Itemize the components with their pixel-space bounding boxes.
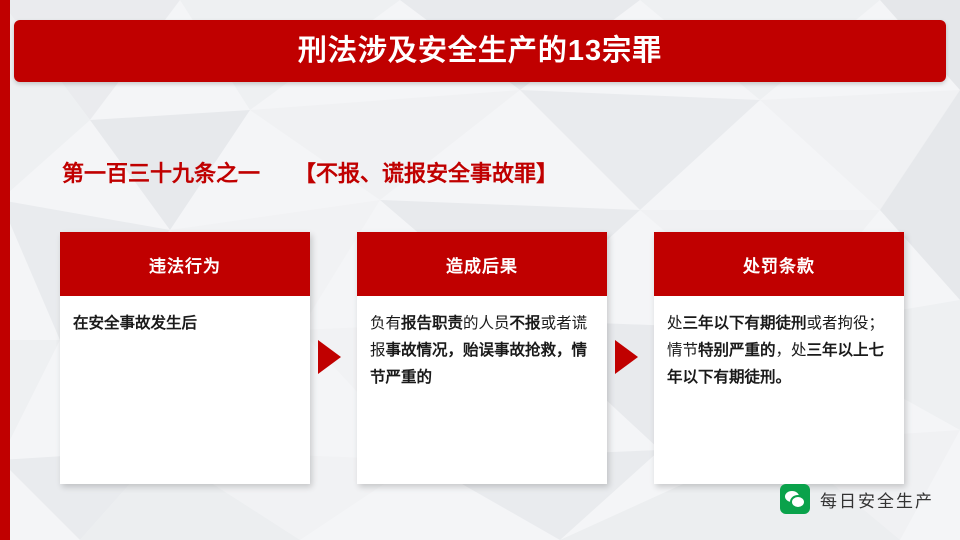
footer-watermark: 每日安全生产 [780,484,934,514]
card-text-segment: ，处 [776,342,807,359]
card-body: 在安全事故发生后 [60,296,310,347]
slide-title-banner: 刑法涉及安全生产的13宗罪 [14,20,946,82]
card-penalty: 处罚条款 处三年以下有期徒刑或者拘役；情节特别严重的，处三年以上七年以下有期徒刑… [654,232,904,484]
card-text-segment: 处 [667,315,683,332]
card-text-segment: 三年以下有期徒刑 [683,315,807,332]
card-text-segment: 报告职责 [401,315,463,332]
article-number: 第一百三十九条之一 [62,156,260,188]
card-text-segment: 不报 [510,315,541,332]
left-accent-bar [0,0,10,540]
article-crime-name: 【不报、谎报安全事故罪】 [294,156,558,188]
card-text-segment: 事故情况，贻误事故抢救，情节严重的 [370,342,587,386]
card-text-segment: 在安全事故发生后 [73,315,197,332]
card-header: 处罚条款 [654,232,904,296]
page-title: 刑法涉及安全生产的13宗罪 [298,37,662,66]
slide: 刑法涉及安全生产的13宗罪 第一百三十九条之一 【不报、谎报安全事故罪】 违法行… [0,0,960,540]
footer-account-name: 每日安全生产 [820,487,934,512]
arrow-right-icon-1 [318,340,341,374]
card-violation: 违法行为 在安全事故发生后 [60,232,310,484]
article-heading: 第一百三十九条之一 【不报、谎报安全事故罪】 [62,156,558,188]
card-text-segment: 特别严重的 [698,342,776,359]
card-body: 处三年以下有期徒刑或者拘役；情节特别严重的，处三年以上七年以下有期徒刑。 [654,296,904,401]
card-text-segment: 的人员 [463,315,510,332]
card-body: 负有报告职责的人员不报或者谎报事故情况，贻误事故抢救，情节严重的 [357,296,607,401]
card-header: 违法行为 [60,232,310,296]
arrow-right-icon-2 [615,340,638,374]
card-consequence: 造成后果 负有报告职责的人员不报或者谎报事故情况，贻误事故抢救，情节严重的 [357,232,607,484]
card-text-segment: 负有 [370,315,401,332]
card-row: 违法行为 在安全事故发生后 造成后果 负有报告职责的人员不报或者谎报事故情况，贻… [60,232,910,484]
card-header: 造成后果 [357,232,607,296]
wechat-icon [780,484,810,514]
